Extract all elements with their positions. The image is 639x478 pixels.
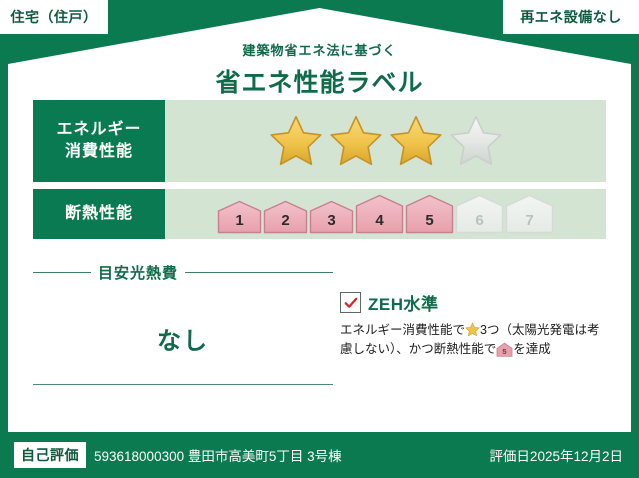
label-subtitle: 建築物省エネ法に基づく — [0, 40, 639, 59]
insulation-level-4: 4 — [355, 194, 404, 234]
heading-rule-right — [185, 272, 333, 273]
check-icon — [344, 296, 358, 310]
insulation-level-5: 5 — [405, 194, 454, 234]
zeh-desc-part3: を達成 — [513, 342, 551, 356]
label-id-and-address: 593618000300 豊田市高美町5丁目 3号棟 — [94, 445, 342, 465]
insulation-level-1: 1 — [217, 200, 262, 234]
zeh-heading: ZEH水準 — [340, 290, 608, 315]
energy-label-line1: エネルギー — [56, 121, 141, 138]
star-icon — [465, 322, 480, 337]
house-shape-icon — [309, 200, 354, 234]
zeh-description: エネルギー消費性能で3つ（太陽光発電は考慮しない）、かつ断熱性能で5を達成 — [340, 321, 608, 360]
insulation-level-3: 3 — [309, 200, 354, 234]
evaluation-date: 評価日2025年12月2日 — [489, 445, 623, 465]
star-filled-icon — [327, 113, 385, 169]
cost-section-divider — [33, 384, 333, 385]
insulation-label: 断熱性能 — [33, 189, 165, 239]
star-empty-icon — [447, 113, 505, 169]
insulation-level-group: 1234567 — [217, 194, 554, 234]
zeh-desc-part1: エネルギー消費性能で — [340, 323, 465, 337]
insulation-level-7: 7 — [505, 194, 554, 234]
energy-label-line2: 消費性能 — [65, 143, 133, 160]
building-type-tag: 住宅（住戸） — [0, 0, 108, 34]
star-filled-icon — [387, 113, 445, 169]
house-shape-icon — [405, 194, 454, 234]
house-shape-icon — [505, 194, 554, 234]
title-block: 建築物省エネ法に基づく 省エネ性能ラベル — [0, 40, 639, 99]
self-evaluation-badge: 自己評価 — [14, 442, 86, 468]
house-shape-icon — [355, 194, 404, 234]
energy-performance-label: 住宅（住戸） 再エネ設備なし 建築物省エネ法に基づく 省エネ性能ラベル エネルギ… — [0, 0, 639, 478]
insulation-level-2: 2 — [263, 200, 308, 234]
energy-star-rating — [165, 100, 606, 182]
utility-cost-title: 目安光熱費 — [98, 262, 178, 283]
zeh-title: ZEH水準 — [368, 290, 439, 315]
utility-cost-section: 目安光熱費 なし — [33, 262, 333, 356]
performance-section: エネルギー 消費性能 断熱性能 1234567 — [33, 100, 606, 246]
energy-consumption-row: エネルギー 消費性能 — [33, 100, 606, 182]
house-shape-icon — [455, 194, 504, 234]
insulation-scale: 1234567 — [165, 189, 606, 239]
heading-rule-left — [33, 272, 91, 273]
insulation-performance-row: 断熱性能 1234567 — [33, 189, 606, 239]
utility-cost-value: なし — [33, 321, 333, 356]
insulation-level-icon: 5 — [496, 342, 513, 357]
label-title: 省エネ性能ラベル — [0, 63, 639, 99]
insulation-level-6: 6 — [455, 194, 504, 234]
house-shape-icon — [217, 200, 262, 234]
star-rating-group — [267, 113, 505, 169]
utility-cost-heading: 目安光熱費 — [33, 262, 333, 283]
svg-text:5: 5 — [503, 347, 507, 356]
footer-bar: 自己評価 593618000300 豊田市高美町5丁目 3号棟 評価日2025年… — [0, 432, 639, 478]
zeh-checkbox[interactable] — [340, 292, 361, 313]
energy-consumption-label: エネルギー 消費性能 — [33, 100, 165, 182]
house-shape-icon — [263, 200, 308, 234]
renewable-equipment-tag: 再エネ設備なし — [503, 0, 639, 34]
zeh-standard-section: ZEH水準 エネルギー消費性能で3つ（太陽光発電は考慮しない）、かつ断熱性能で5… — [340, 290, 608, 360]
star-filled-icon — [267, 113, 325, 169]
